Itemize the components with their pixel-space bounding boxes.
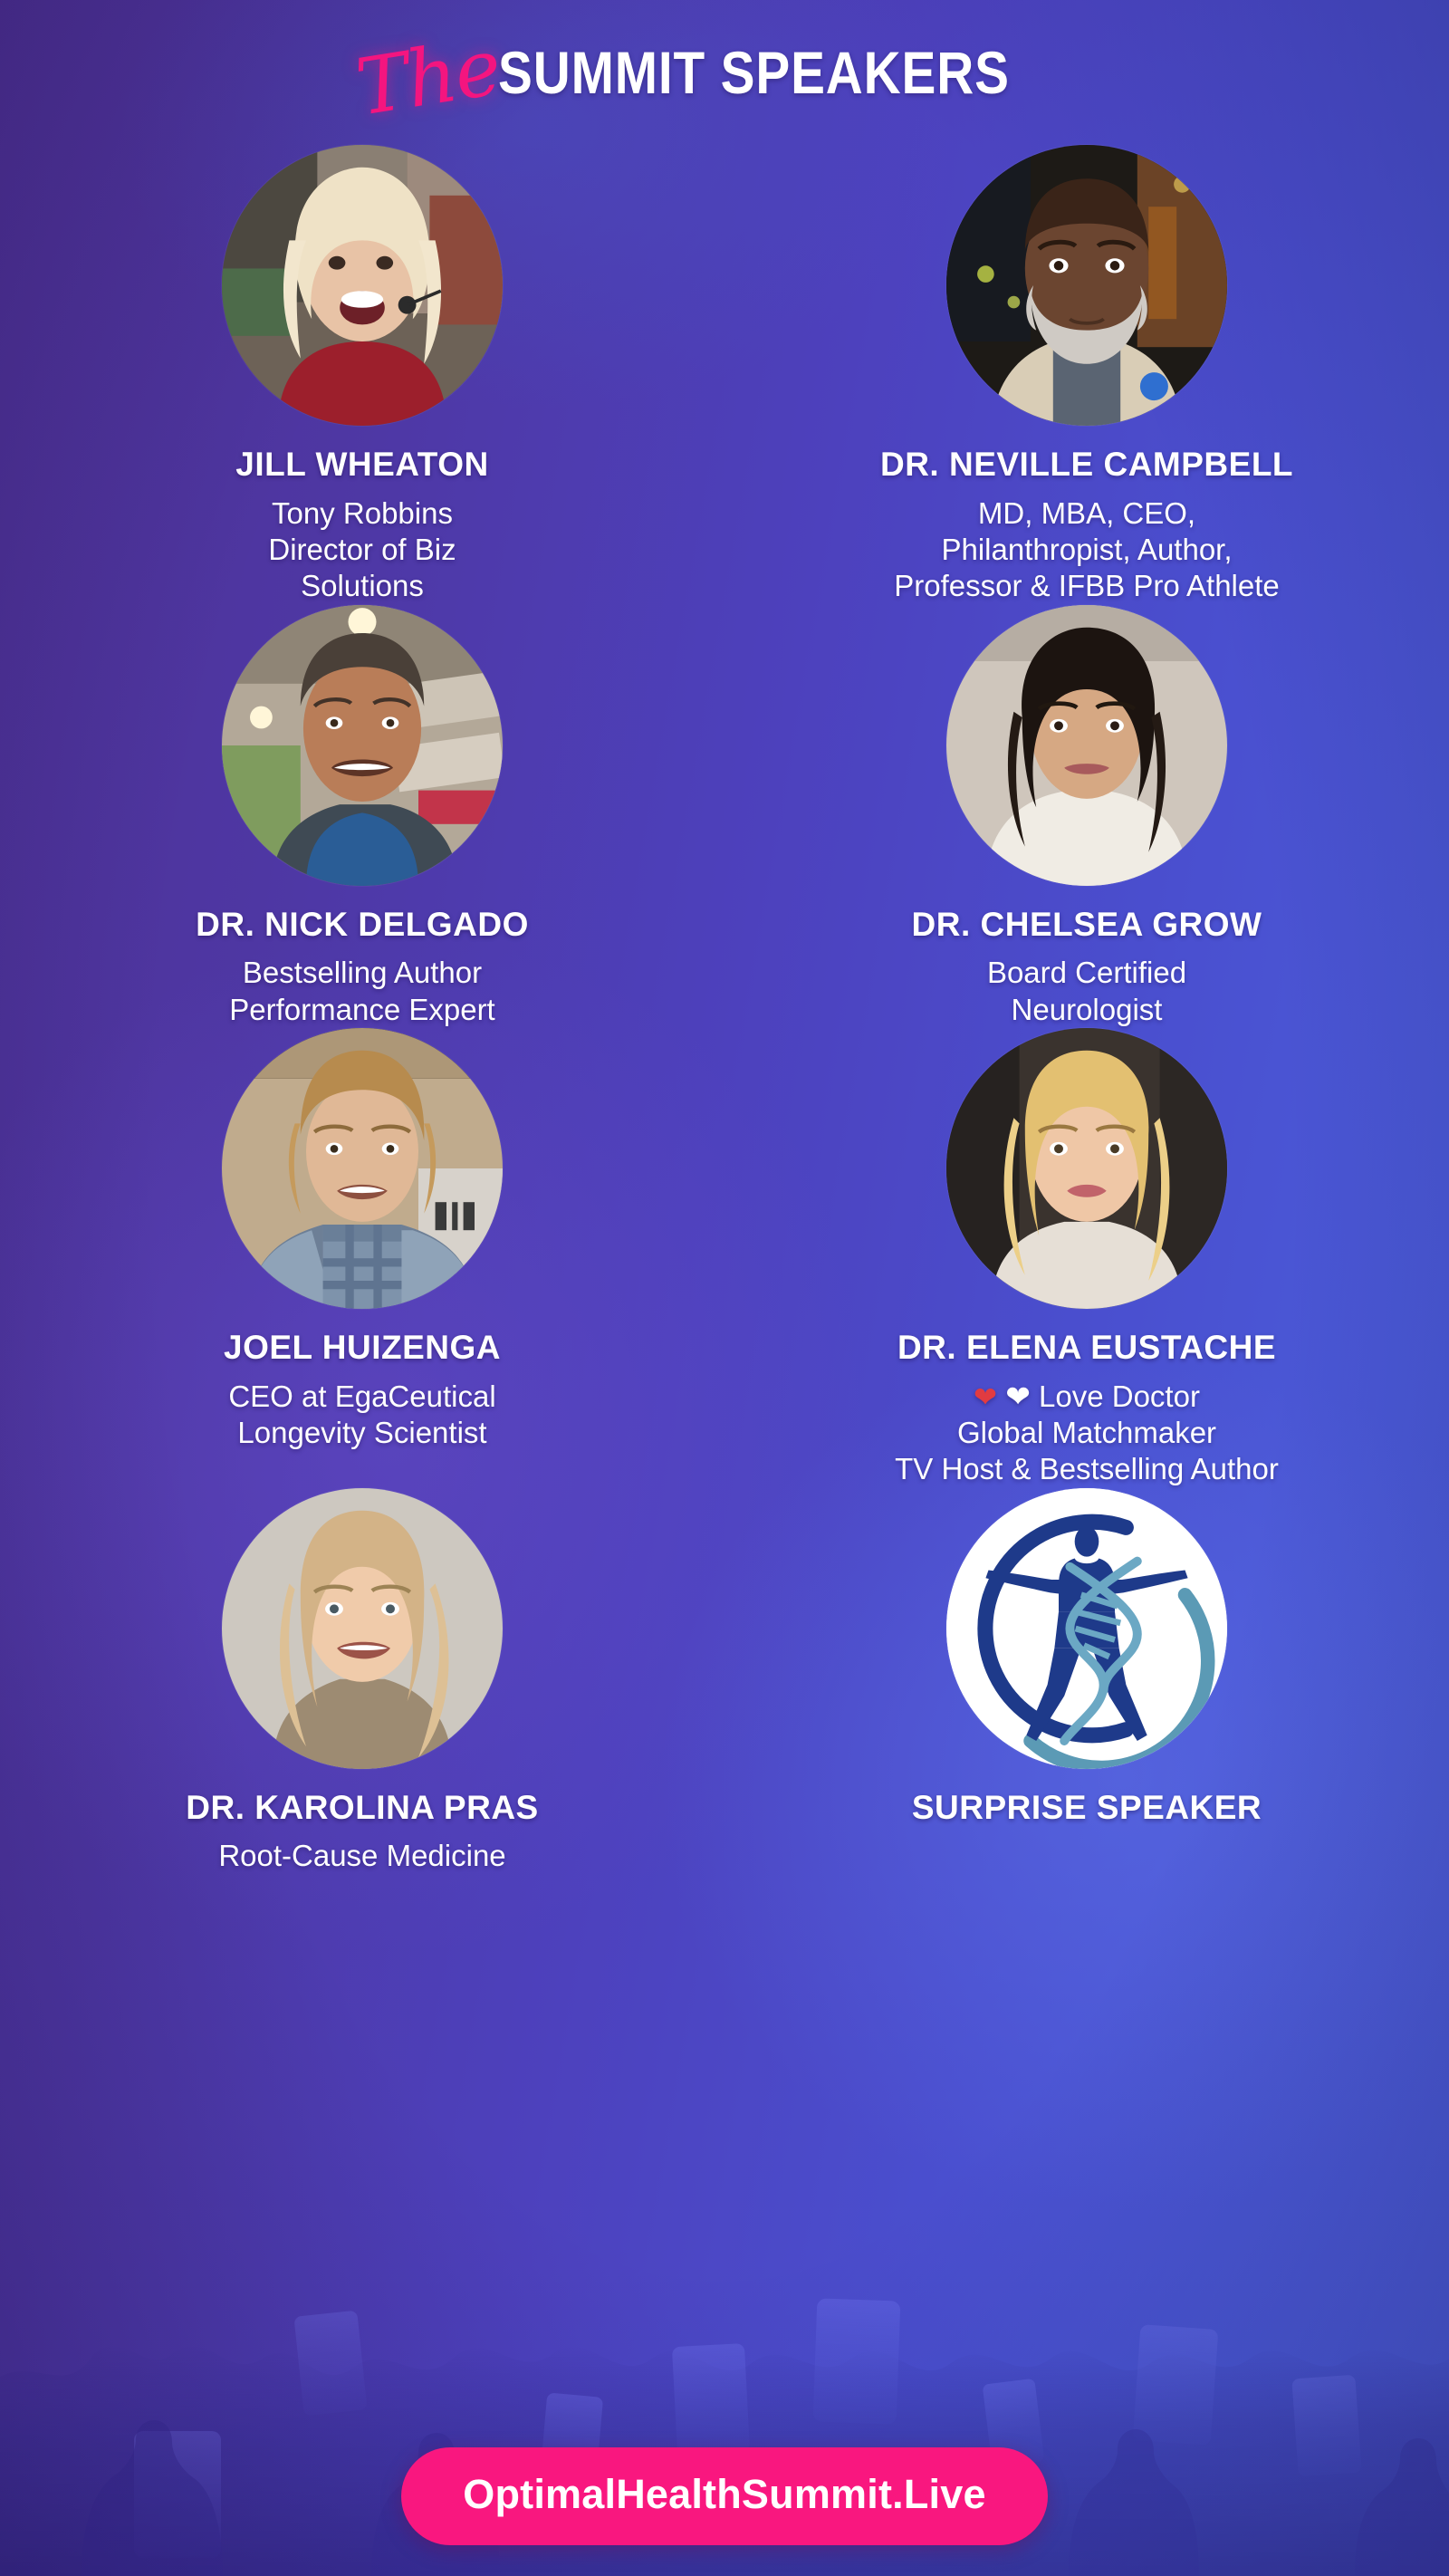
speaker-name: DR. NICK DELGADO [196,908,529,943]
speaker-card[interactable]: DR. KAROLINA PRAS Root-Cause Medicine [0,1488,724,1875]
avatar [222,1488,503,1769]
page-title: SUMMIT SPEAKERS [498,43,1010,102]
speaker-title-line: Philanthropist, Author, [941,533,1232,566]
speaker-title: Bestselling Author Performance Expert [229,955,494,1028]
header-script-word: The [352,36,503,120]
speaker-title-line: CEO at EgaCeutical [228,1379,495,1413]
speaker-name: DR. CHELSEA GROW [912,908,1262,943]
speaker-title: MD, MBA, CEO, Philanthropist, Author, Pr… [894,495,1280,605]
speaker-title-line: ❤ Love Doctor [1005,1379,1200,1413]
speaker-card[interactable]: DR. ELENA EUSTACHE ❤ ❤ Love Doctor Globa… [724,1028,1449,1488]
speaker-title-line: Neurologist [1012,993,1163,1026]
speakers-grid: JILL WHEATON Tony Robbins Director of Bi… [0,145,1449,1875]
speaker-title: ❤ ❤ Love Doctor Global Matchmaker TV Hos… [895,1379,1279,1488]
summit-website-button[interactable]: OptimalHealthSummit.Live [401,2447,1047,2545]
speaker-name: DR. KAROLINA PRAS [186,1791,538,1826]
heart-icon: ❤ [974,1381,997,1413]
speaker-card[interactable]: DR. NICK DELGADO Bestselling Author Perf… [0,605,724,1028]
speaker-card[interactable]: DR. CHELSEA GROW Board Certified Neurolo… [724,605,1449,1028]
speaker-title-line: Director of Biz [268,533,456,566]
speaker-title-line: TV Host & Bestselling Author [895,1452,1279,1485]
speaker-title: Root-Cause Medicine [218,1838,505,1874]
avatar [946,605,1227,886]
speaker-title-line: Professor & IFBB Pro Athlete [894,569,1280,602]
speaker-title-line: Solutions [301,569,424,602]
speaker-card[interactable]: SURPRISE SPEAKER [724,1488,1449,1875]
speaker-card[interactable]: JOEL HUIZENGA CEO at EgaCeutical Longevi… [0,1028,724,1488]
summit-logo-icon [946,1488,1227,1769]
page-header: The SUMMIT SPEAKERS [0,0,1449,145]
avatar [222,1028,503,1309]
avatar [222,145,503,426]
speaker-name: JOEL HUIZENGA [224,1331,501,1366]
speaker-title: Tony Robbins Director of Biz Solutions [268,495,456,605]
speaker-title-line: Tony Robbins [272,496,453,530]
speaker-title-line: Root-Cause Medicine [218,1839,505,1872]
speaker-card[interactable]: DR. NEVILLE CAMPBELL MD, MBA, CEO, Phila… [724,145,1449,605]
speaker-title-line: Longevity Scientist [237,1416,486,1449]
speaker-title-line: Bestselling Author [243,956,482,989]
speaker-title: Board Certified Neurologist [987,955,1186,1028]
avatar [222,605,503,886]
avatar [946,1028,1227,1309]
speaker-title: CEO at EgaCeutical Longevity Scientist [228,1379,495,1452]
speaker-name: DR. ELENA EUSTACHE [897,1331,1276,1366]
avatar [946,145,1227,426]
cta-container: OptimalHealthSummit.Live [0,2447,1449,2545]
speaker-card[interactable]: JILL WHEATON Tony Robbins Director of Bi… [0,145,724,605]
speaker-title-line: Board Certified [987,956,1186,989]
speaker-name: SURPRISE SPEAKER [912,1791,1262,1826]
speaker-title-line: MD, MBA, CEO, [978,496,1195,530]
speaker-title-line: Global Matchmaker [957,1416,1216,1449]
speaker-title-line: Performance Expert [229,993,494,1026]
speaker-name: DR. NEVILLE CAMPBELL [880,447,1293,483]
speaker-name: JILL WHEATON [235,447,488,483]
